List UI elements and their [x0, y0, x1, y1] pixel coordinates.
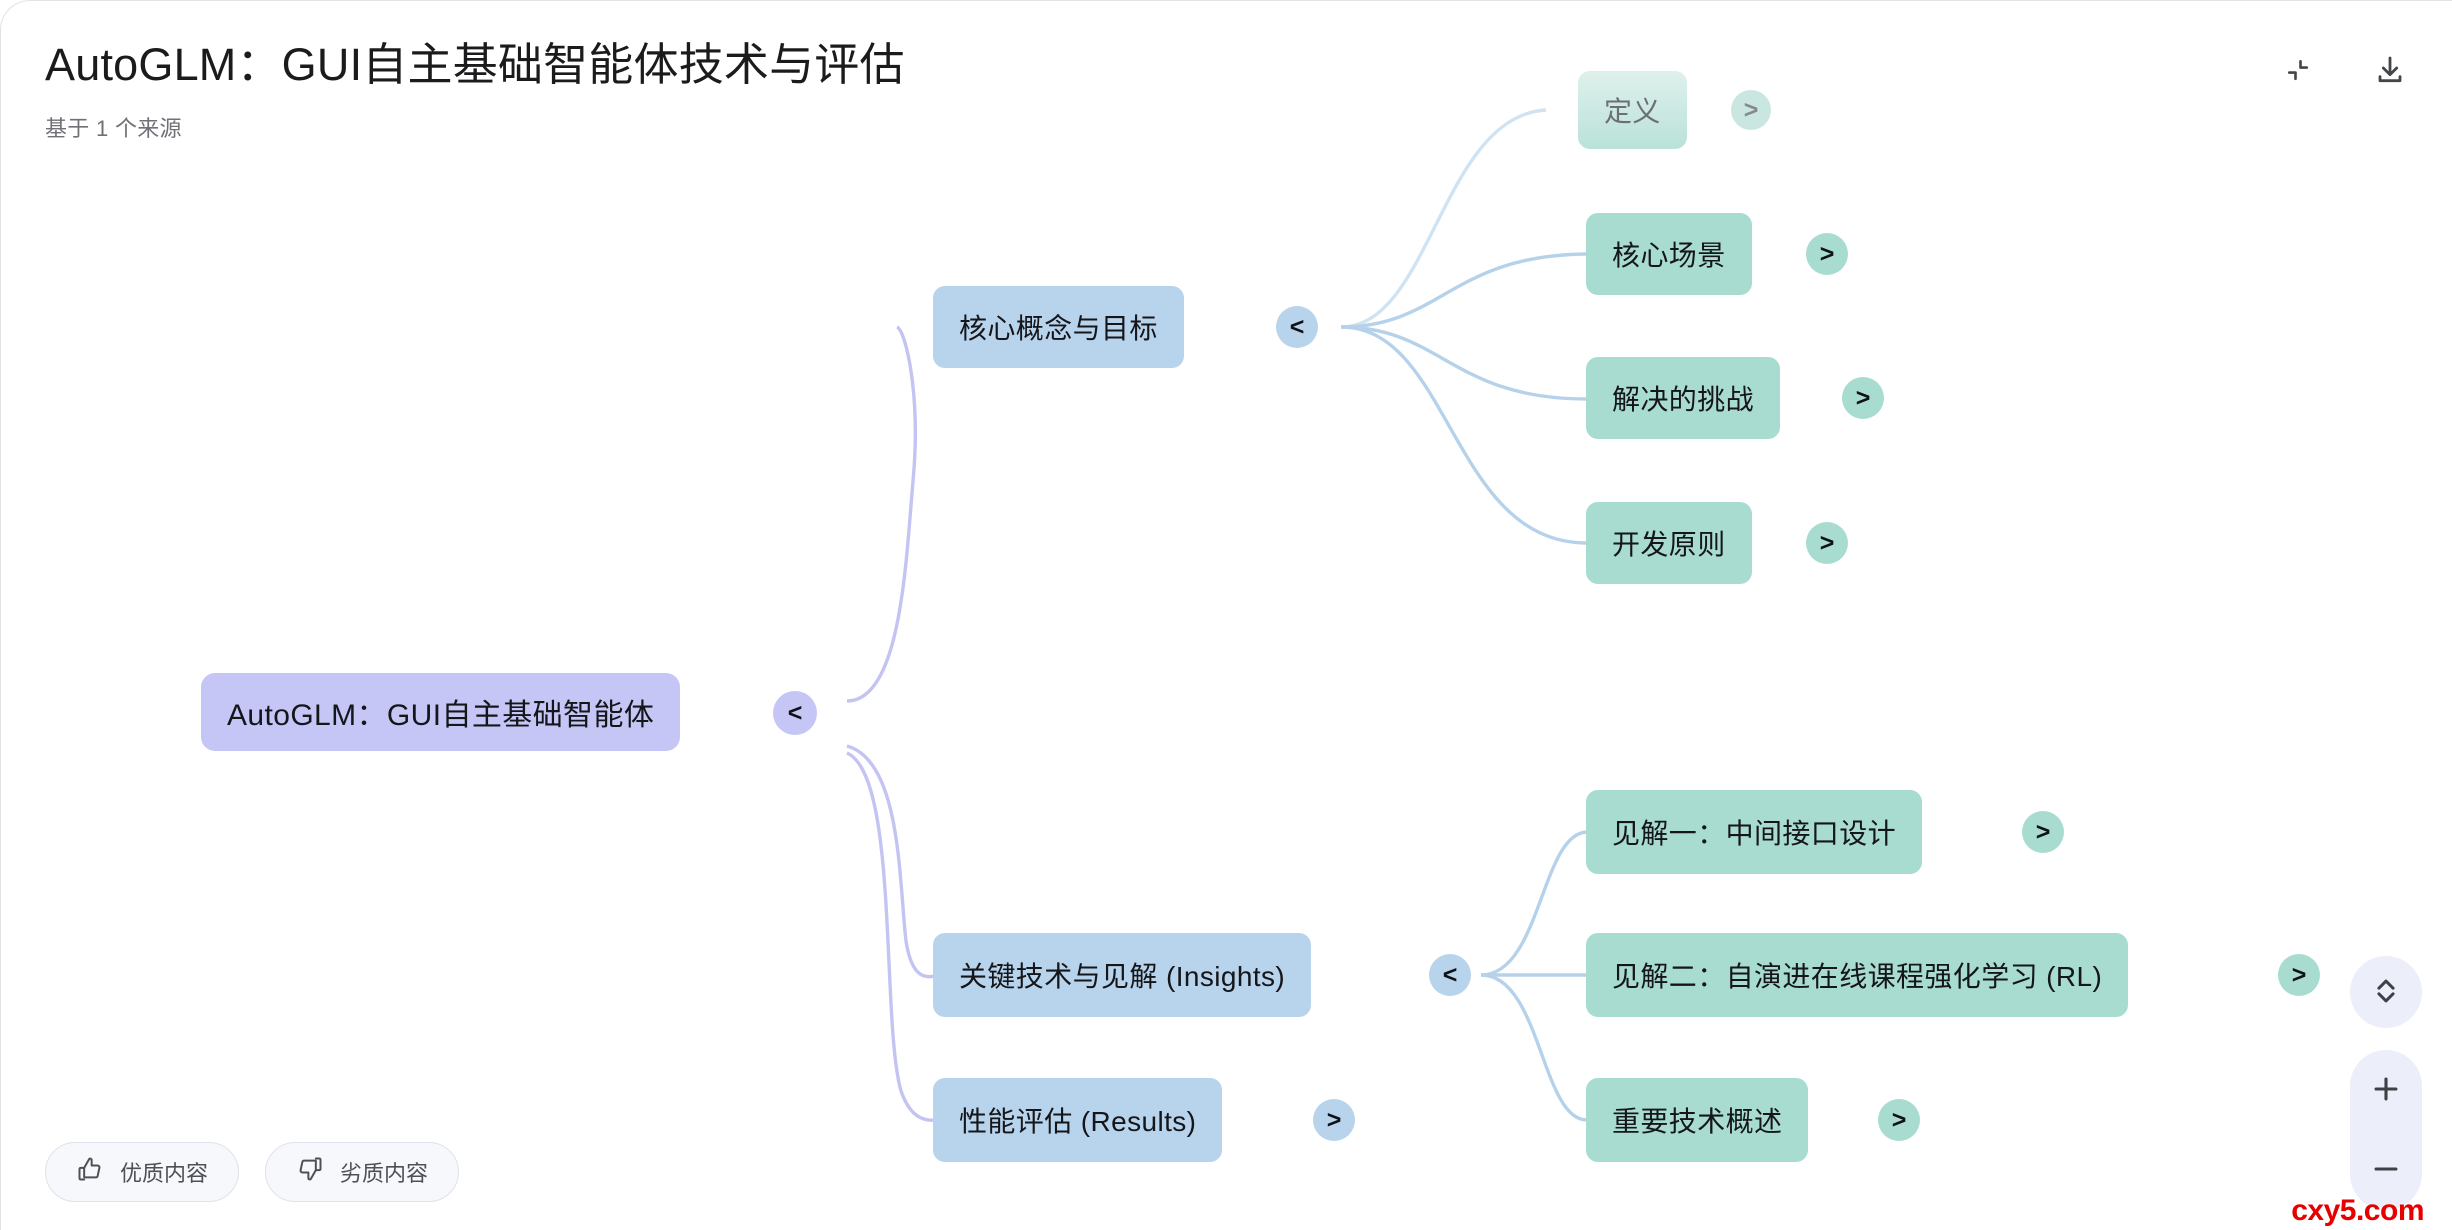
node-toggle-performance-results[interactable]: >	[1313, 1099, 1355, 1141]
node-toggle-core-scenarios[interactable]: >	[1806, 233, 1848, 275]
mindmap-node-insight-two[interactable]: 见解二：自演进在线课程强化学习 (RL)	[1586, 933, 2128, 1017]
node-toggle-insight-two[interactable]: >	[2278, 954, 2320, 996]
thumbs-up-icon	[76, 1155, 104, 1189]
node-toggle-insight-one[interactable]: >	[2022, 811, 2064, 853]
mindmap-app: AutoGLM：GUI自主基础智能体技术与评估 基于 1 个来源	[0, 0, 2452, 1230]
mindmap-node-root[interactable]: AutoGLM：GUI自主基础智能体	[201, 673, 680, 751]
mindmap-node-key-tech-insights[interactable]: 关键技术与见解 (Insights)	[933, 933, 1311, 1017]
zoom-controls	[2350, 956, 2422, 1210]
mindmap-node-definition[interactable]: 定义	[1578, 71, 1687, 149]
node-toggle-key-tech-insights[interactable]: <	[1429, 954, 1471, 996]
edge-root-branch1	[847, 327, 915, 701]
node-label: 见解一：中间接口设计	[1612, 812, 1896, 852]
node-label: 关键技术与见解 (Insights)	[959, 955, 1285, 995]
minus-icon	[2369, 1152, 2403, 1189]
zoom-in-out-group	[2350, 1050, 2422, 1210]
chevron-up-down-icon	[2369, 974, 2403, 1011]
node-label: 见解二：自演进在线课程强化学习 (RL)	[1612, 955, 2102, 995]
node-label: 核心概念与目标	[959, 307, 1158, 347]
zoom-in-button[interactable]	[2350, 1050, 2422, 1130]
edge-branch1-child4	[1341, 327, 1587, 543]
edge-branch2-child3	[1481, 975, 1587, 1120]
edge-branch2-child1	[1481, 832, 1587, 975]
mindmap-node-key-tech-overview[interactable]: 重要技术概述	[1586, 1078, 1808, 1162]
edge-root-branch2	[847, 746, 941, 977]
node-toggle-key-tech-overview[interactable]: >	[1878, 1099, 1920, 1141]
plus-icon	[2369, 1072, 2403, 1109]
mindmap-node-core-scenarios[interactable]: 核心场景	[1586, 213, 1752, 295]
thumbs-down-icon	[296, 1155, 324, 1189]
node-label: 重要技术概述	[1612, 1100, 1782, 1140]
edge-branch1-child3	[1341, 327, 1587, 399]
node-label: 开发原则	[1612, 523, 1726, 563]
feedback-bar: 优质内容 劣质内容	[45, 1142, 459, 1202]
zoom-out-button[interactable]	[2350, 1130, 2422, 1210]
fit-to-screen-button[interactable]	[2350, 956, 2422, 1028]
negative-feedback-label: 劣质内容	[340, 1156, 428, 1188]
node-label: 核心场景	[1612, 234, 1726, 274]
node-toggle-challenges[interactable]: >	[1842, 377, 1884, 419]
mindmap-canvas[interactable]: AutoGLM：GUI自主基础智能体 < 核心概念与目标 < 定义 > 核心场景…	[1, 1, 2452, 1230]
node-label: 性能评估 (Results)	[959, 1100, 1196, 1140]
negative-feedback-button[interactable]: 劣质内容	[265, 1142, 459, 1202]
edge-layer	[1, 1, 2452, 1230]
node-toggle-definition[interactable]: >	[1731, 90, 1771, 130]
node-toggle-dev-principles[interactable]: >	[1806, 522, 1848, 564]
edge-branch1-child1	[1341, 110, 1546, 327]
mindmap-node-performance-results[interactable]: 性能评估 (Results)	[933, 1078, 1222, 1162]
edge-root-branch3	[847, 753, 941, 1120]
mindmap-node-core-concepts[interactable]: 核心概念与目标	[933, 286, 1184, 368]
positive-feedback-button[interactable]: 优质内容	[45, 1142, 239, 1202]
node-label: 解决的挑战	[1612, 378, 1754, 418]
positive-feedback-label: 优质内容	[120, 1156, 208, 1188]
node-toggle-core-concepts[interactable]: <	[1276, 306, 1318, 348]
mindmap-node-challenges[interactable]: 解决的挑战	[1586, 357, 1780, 439]
edge-branch1-child2	[1341, 254, 1587, 327]
node-label: AutoGLM：GUI自主基础智能体	[227, 690, 654, 734]
mindmap-node-insight-one[interactable]: 见解一：中间接口设计	[1586, 790, 1922, 874]
mindmap-node-dev-principles[interactable]: 开发原则	[1586, 502, 1752, 584]
node-toggle-root[interactable]: <	[773, 691, 817, 735]
node-label: 定义	[1604, 90, 1661, 130]
